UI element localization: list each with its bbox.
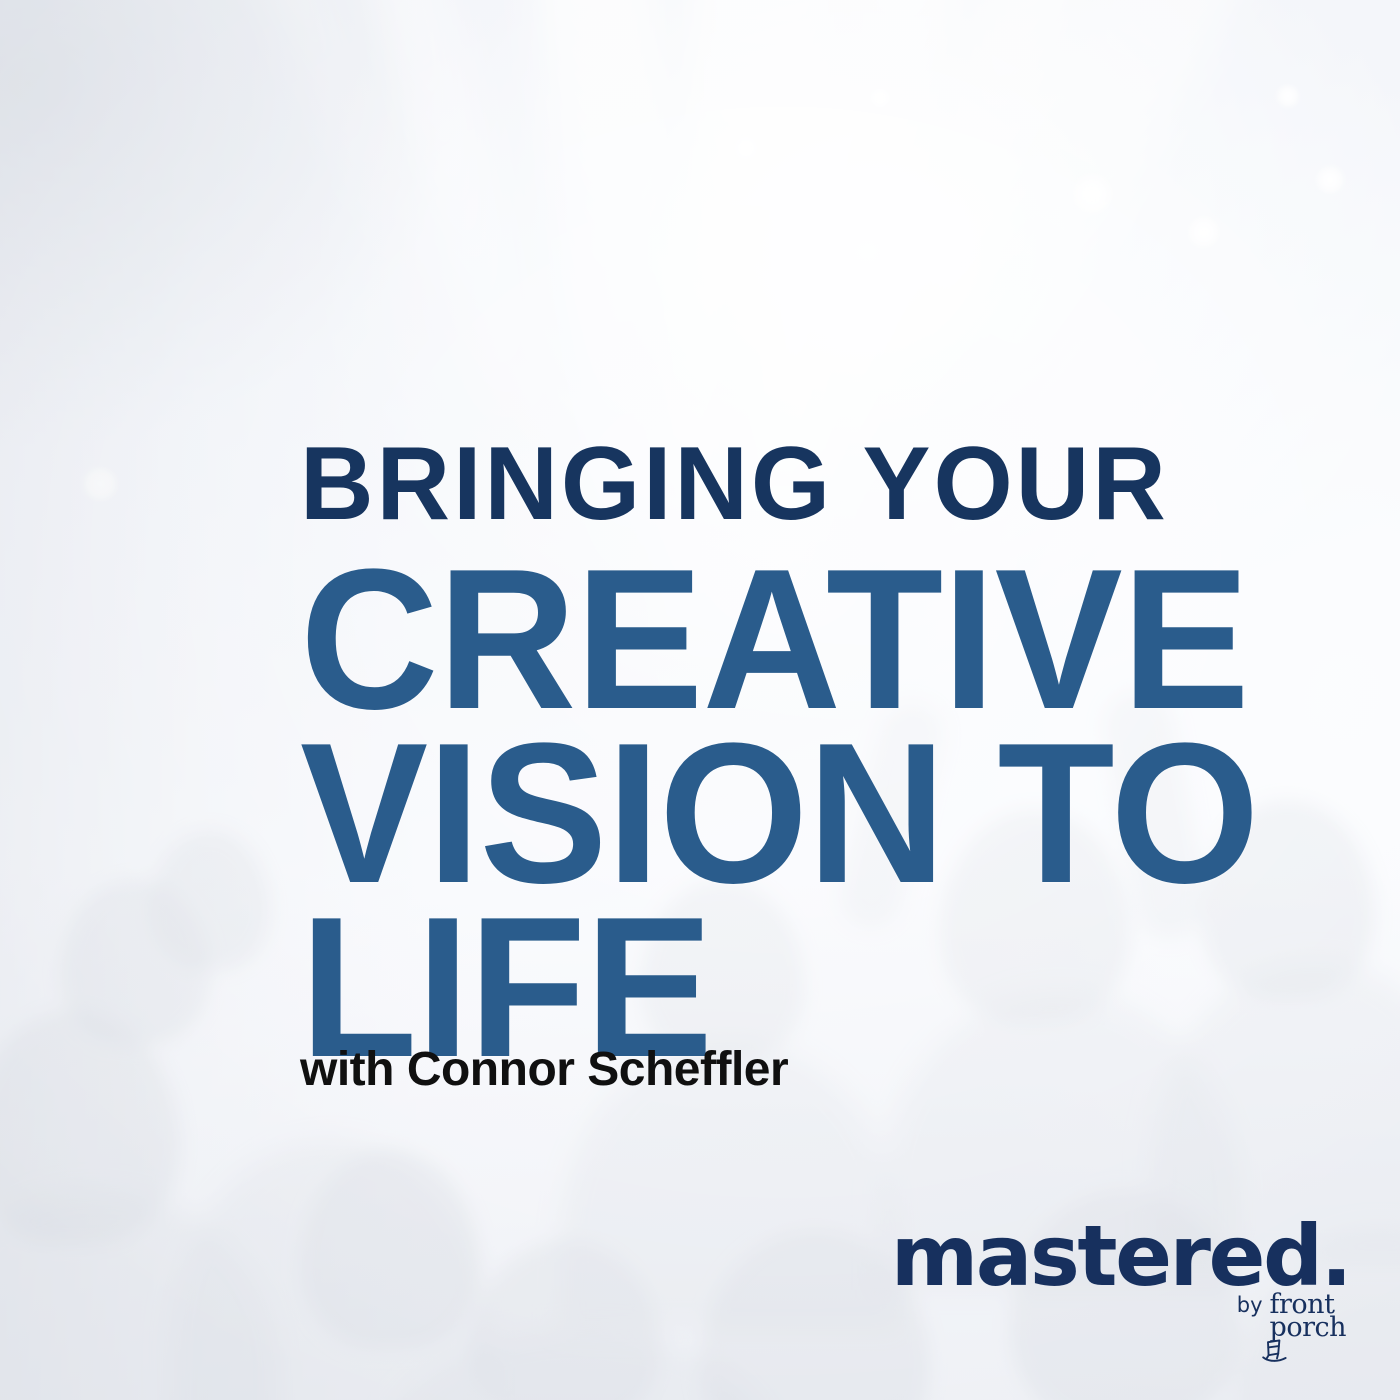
crowd-shoulder xyxy=(0,1190,280,1400)
host-credit: with Connor Scheffler xyxy=(300,1042,788,1097)
crowd-head xyxy=(60,880,210,1045)
crowd-shoulder xyxy=(380,1330,780,1400)
crowd-head xyxy=(0,1010,180,1245)
title-line-eyebrow: BRINGING YOUR xyxy=(300,436,1113,534)
brand-company-name: front porch xyxy=(1270,1293,1346,1358)
podcast-cover-art: BRINGING YOUR CREATIVE VISION TO LIFE wi… xyxy=(0,0,1400,1400)
brand-by-label: by xyxy=(1237,1293,1263,1316)
crowd-head xyxy=(470,1240,660,1400)
crowd-shoulder xyxy=(170,1140,490,1400)
bokeh-light xyxy=(1187,215,1221,249)
brand-company-line-2-row: porch xyxy=(1270,1316,1346,1363)
bokeh-light xyxy=(81,465,119,503)
crowd-head xyxy=(150,830,270,970)
brand-company-line-2: porch xyxy=(1270,1316,1346,1339)
brand-wordmark: mastered. xyxy=(891,1219,1350,1295)
brand-logo: mastered. by front porch xyxy=(891,1219,1350,1358)
bokeh-light xyxy=(1071,173,1113,215)
light-beam xyxy=(887,0,1302,436)
title-block: BRINGING YOUR CREATIVE VISION TO LIFE xyxy=(300,436,1130,1082)
bokeh-light xyxy=(1315,165,1345,195)
bokeh-light xyxy=(1276,84,1300,108)
bokeh-light xyxy=(733,135,759,161)
crowd-head xyxy=(300,1150,480,1350)
bokeh-light xyxy=(869,87,891,109)
light-beam xyxy=(202,0,447,290)
light-beam xyxy=(331,0,559,448)
